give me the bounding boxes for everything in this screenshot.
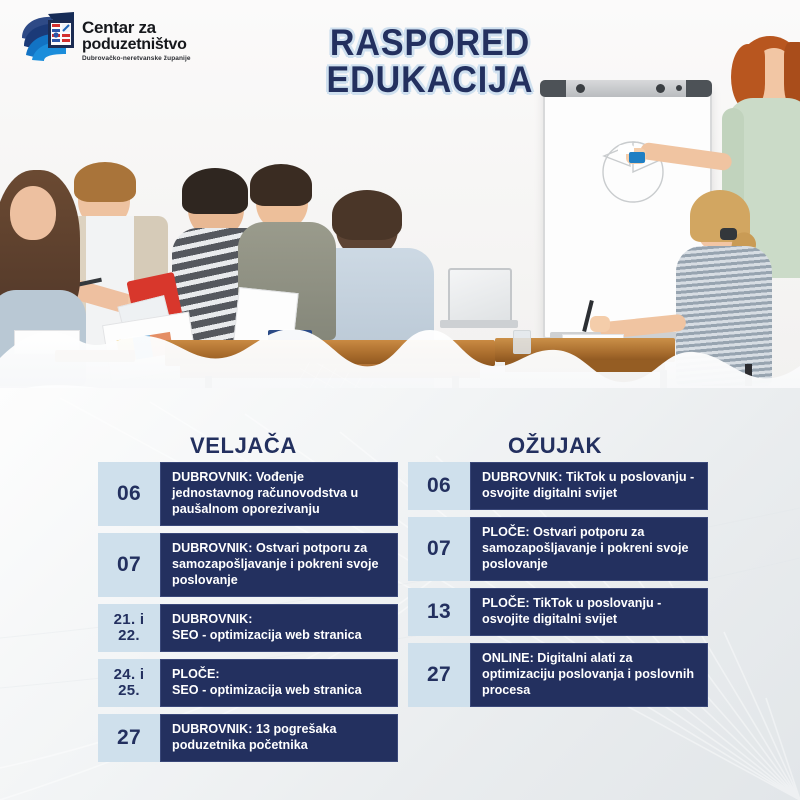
schedule-description: DUBROVNIK: 13 pogrešaka poduzetnika poče… [160, 714, 398, 762]
logo-line-1: Centar za [82, 19, 191, 36]
schedule-description: DUBROVNIK:SEO - optimizacija web stranic… [160, 604, 398, 652]
schedule-row: 07DUBROVNIK: Ostvari potporu za samozapo… [98, 533, 398, 597]
schedule-description: DUBROVNIK: TikTok u poslovanju - osvojit… [470, 462, 708, 510]
man-olive-hair [250, 164, 312, 206]
schedule-description: ONLINE: Digitalni alati za optimizaciju … [470, 643, 708, 707]
schedule-day: 06 [408, 462, 470, 510]
schedule-row: 13PLOČE: TikTok u poslovanju - osvojite … [408, 588, 708, 636]
schedule-description: PLOČE: TikTok u poslovanju - osvojite di… [470, 588, 708, 636]
schedule-day: 07 [408, 517, 470, 581]
schedule-description: DUBROVNIK: Vođenje jednostavnog računovo… [160, 462, 398, 526]
man-blond-hair [74, 162, 136, 202]
schedule-description: DUBROVNIK: Ostvari potporu za samozapošl… [160, 533, 398, 597]
schedule-row: 06DUBROVNIK: TikTok u poslovanju - osvoj… [408, 462, 708, 510]
schedule-day: 24. i25. [98, 659, 160, 707]
hair-tie [720, 228, 737, 240]
schedule-row: 21. i22.DUBROVNIK:SEO - optimizacija web… [98, 604, 398, 652]
organisation-logo[interactable]: Centar za poduzetništvo Dubrovačko-neret… [18, 8, 198, 64]
logo-line-2: poduzetništvo [82, 36, 191, 54]
pie-chart-sketch [600, 120, 670, 210]
schedule-row: 27DUBROVNIK: 13 pogrešaka poduzetnika po… [98, 714, 398, 762]
schedule-description: PLOČE: Ostvari potporu za samozapošljava… [470, 517, 708, 581]
schedule-row: 06DUBROVNIK: Vođenje jednostavnog računo… [98, 462, 398, 526]
schedule-day: 07 [98, 533, 160, 597]
schedule-column-right: 06DUBROVNIK: TikTok u poslovanju - osvoj… [408, 462, 708, 714]
schedule-column-left: 06DUBROVNIK: Vođenje jednostavnog računo… [98, 462, 398, 769]
month-heading-right: OŽUJAK [508, 433, 602, 459]
schedule-row: 27ONLINE: Digitalni alati za optimizacij… [408, 643, 708, 707]
logo-mark-icon [18, 8, 80, 62]
schedule-description: PLOČE:SEO - optimizacija web stranica [160, 659, 398, 707]
schedule-day: 21. i22. [98, 604, 160, 652]
schedule-day: 06 [98, 462, 160, 526]
schedule-day: 27 [408, 643, 470, 707]
woman-head [10, 186, 56, 240]
page-title: RASPORED EDUKACIJA [246, 24, 614, 98]
schedule-row: 24. i25.PLOČE:SEO - optimizacija web str… [98, 659, 398, 707]
poster: Centar za poduzetništvo Dubrovačko-neret… [0, 0, 800, 800]
marker-body [629, 152, 645, 163]
schedule-row: 07PLOČE: Ostvari potporu za samozapošlja… [408, 517, 708, 581]
man-striped-hair [182, 168, 248, 214]
schedule-day: 13 [408, 588, 470, 636]
logo-line-3: Dubrovačko-neretvanske županije [82, 55, 191, 62]
month-heading-left: VELJAČA [190, 433, 297, 459]
man-back-hair [332, 190, 402, 240]
schedule-day: 27 [98, 714, 160, 762]
